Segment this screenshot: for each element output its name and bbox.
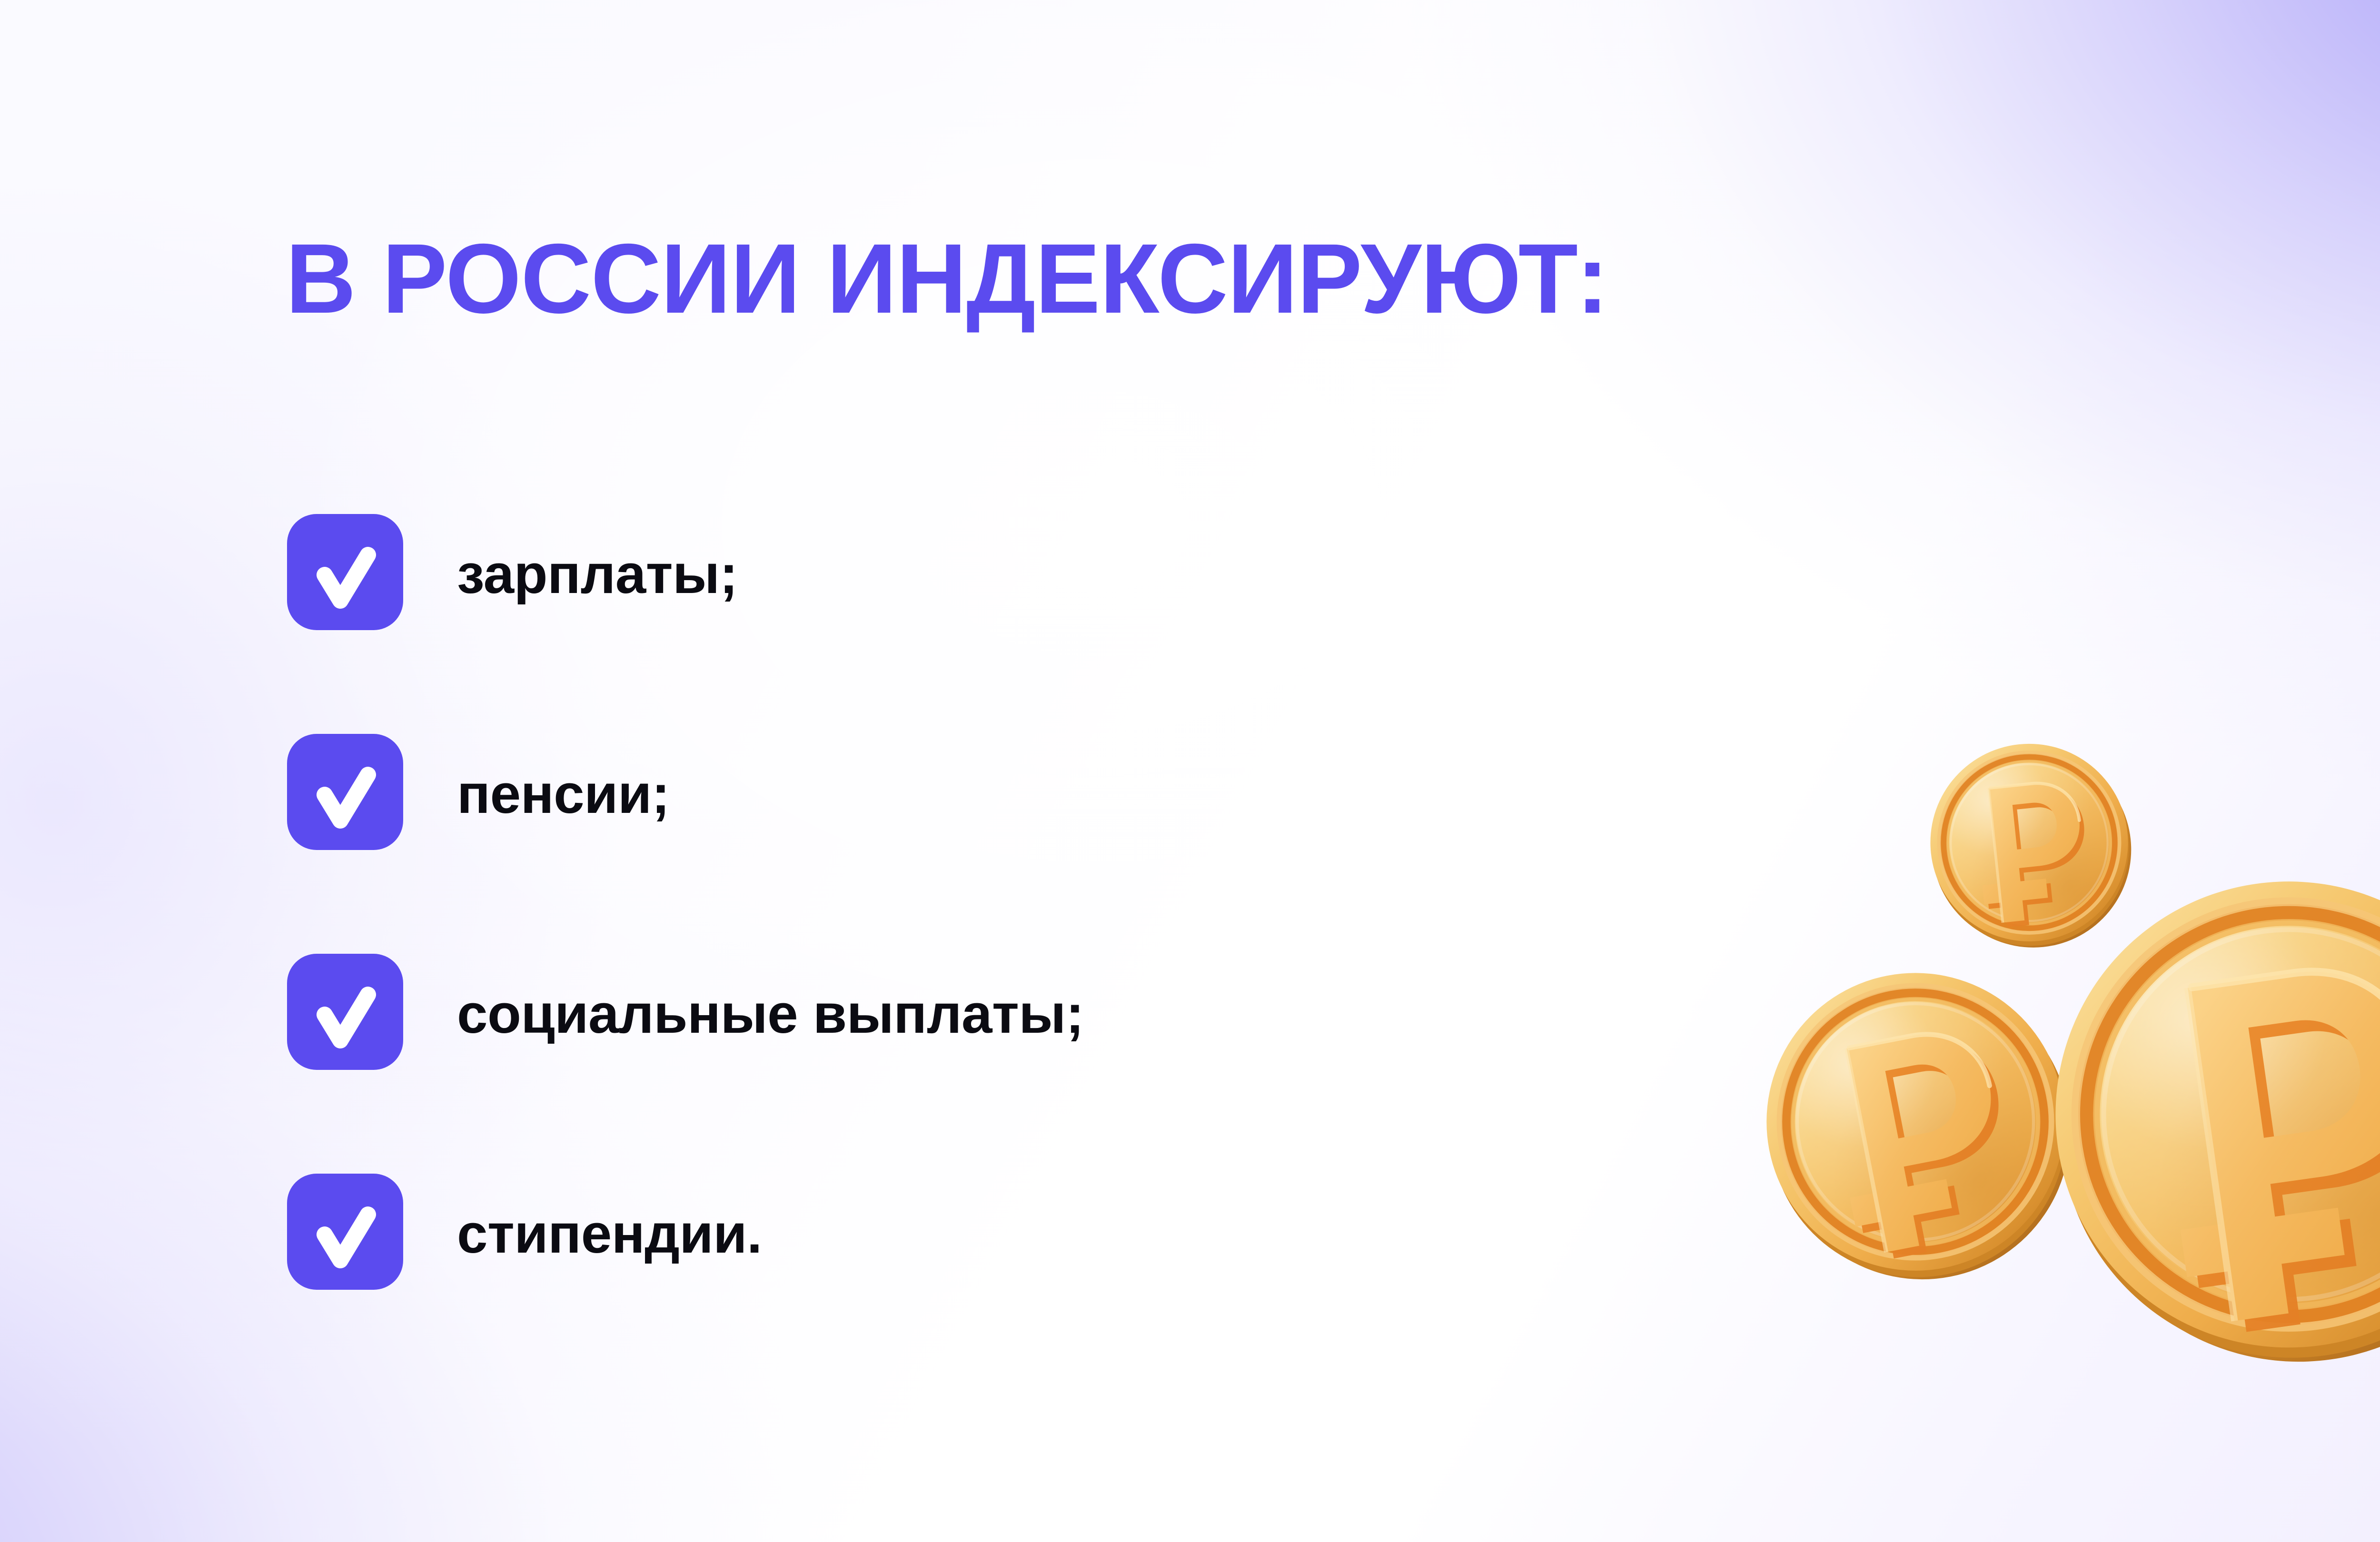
checkmark-icon [287, 954, 403, 1070]
coin-small [1923, 741, 2135, 953]
list-item-label: зарплаты; [457, 516, 738, 632]
page-title: В РОССИИ ИНДЕКСИРУЮТ: [286, 229, 1608, 328]
checkmark-icon [287, 1174, 403, 1290]
checkbox-checked[interactable] [287, 514, 403, 630]
checkbox-checked[interactable] [287, 954, 403, 1070]
list-item[interactable]: социальные выплаты; [287, 954, 1525, 1070]
checklist: зарплаты; пенсии; социальные выплаты; [287, 514, 1525, 1290]
list-item-label: стипендии. [457, 1176, 762, 1292]
coin-left [1755, 968, 2075, 1288]
list-item[interactable]: пенсии; [287, 734, 1525, 850]
list-item-label: социальные выплаты; [457, 956, 1084, 1072]
list-item[interactable]: зарплаты; [287, 514, 1525, 630]
checkmark-icon [287, 734, 403, 850]
list-item[interactable]: стипендии. [287, 1174, 1525, 1290]
list-item-label: пенсии; [457, 736, 670, 852]
checkmark-icon [287, 514, 403, 630]
coin-large [2038, 874, 2380, 1374]
checkbox-checked[interactable] [287, 734, 403, 850]
slide-canvas: В РОССИИ ИНДЕКСИРУЮТ: зарплаты; пенсии; [0, 0, 2380, 1542]
checkbox-checked[interactable] [287, 1174, 403, 1290]
